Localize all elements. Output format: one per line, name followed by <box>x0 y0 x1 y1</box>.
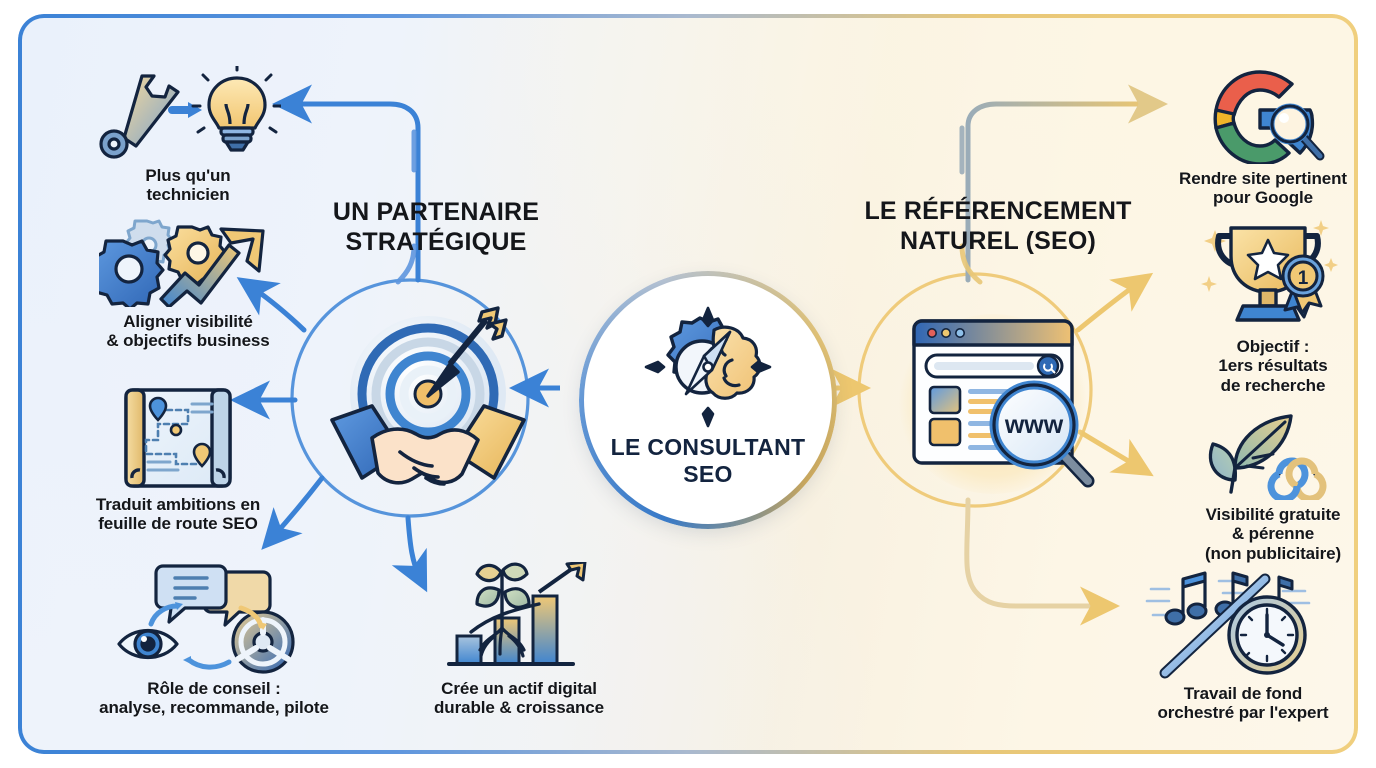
item-conseil[interactable]: Rôle de conseil : analyse, recommande, p… <box>70 562 358 718</box>
item-caption: Traduit ambitions en feuille de route SE… <box>48 495 308 534</box>
arrow-right-travail <box>967 500 1104 606</box>
roadmap-scroll-icon <box>118 386 238 490</box>
baton-notes-clock-icon <box>1143 569 1343 679</box>
eye-chat-steering-wheel-icon <box>111 562 317 674</box>
item-caption: Rôle de conseil : analyse, recommande, p… <box>70 679 358 718</box>
item-caption: Rendre site pertinent pour Google <box>1138 169 1358 208</box>
item-travail[interactable]: Travail de fond orchestré par l'expert <box>1108 569 1358 723</box>
browser-search-www-icon: www <box>904 309 1104 495</box>
heading-left: UN PARTENAIRE STRATÉGIQUE <box>286 197 586 257</box>
item-caption: Visibilité gratuite & pérenne (non publi… <box>1158 505 1358 563</box>
item-technicien[interactable]: Plus qu'un technicien <box>78 66 298 205</box>
infographic-canvas: UN PARTENAIRE STRATÉGIQUE LE RÉFÉRENCEME… <box>0 0 1376 768</box>
leaf-infinity-icon <box>1203 414 1343 500</box>
item-actif[interactable]: Crée un actif digital durable & croissan… <box>404 562 634 718</box>
plant-growth-bars-icon <box>443 562 595 674</box>
item-caption: Plus qu'un technicien <box>78 166 298 205</box>
item-caption: Objectif : 1ers résultats de recherche <box>1168 337 1358 395</box>
center-label: LE CONSULTANT SEO <box>584 434 832 487</box>
wrench-to-lightbulb-icon <box>96 66 281 161</box>
google-g-magnifier-icon <box>1198 66 1328 164</box>
item-caption: Crée un actif digital durable & croissan… <box>404 679 634 718</box>
item-feuille[interactable]: Traduit ambitions en feuille de route SE… <box>48 386 308 534</box>
item-google[interactable]: Rendre site pertinent pour Google <box>1138 66 1358 208</box>
item-aligner[interactable]: Aligner visibilité & objectifs business <box>58 219 318 351</box>
infographic-panel: UN PARTENAIRE STRATÉGIQUE LE RÉFÉRENCEME… <box>18 14 1358 754</box>
item-objectif[interactable]: 1 Objectif : 1ers résultats de recherche <box>1168 214 1358 395</box>
handshake-target-icon <box>326 302 530 502</box>
item-caption: Aligner visibilité & objectifs business <box>58 312 318 351</box>
item-visibilite[interactable]: Visibilité gratuite & pérenne (non publi… <box>1158 414 1358 563</box>
heading-right: LE RÉFÉRENCEMENT NATUREL (SEO) <box>838 196 1158 256</box>
trophy-medal-icon: 1 <box>1199 214 1347 332</box>
svg-text:1: 1 <box>1298 268 1309 289</box>
item-caption: Travail de fond orchestré par l'expert <box>1108 684 1358 723</box>
gears-growth-arrow-icon <box>99 219 277 307</box>
svg-text:www: www <box>1004 411 1064 439</box>
gear-compass-brain-icon <box>638 306 778 428</box>
